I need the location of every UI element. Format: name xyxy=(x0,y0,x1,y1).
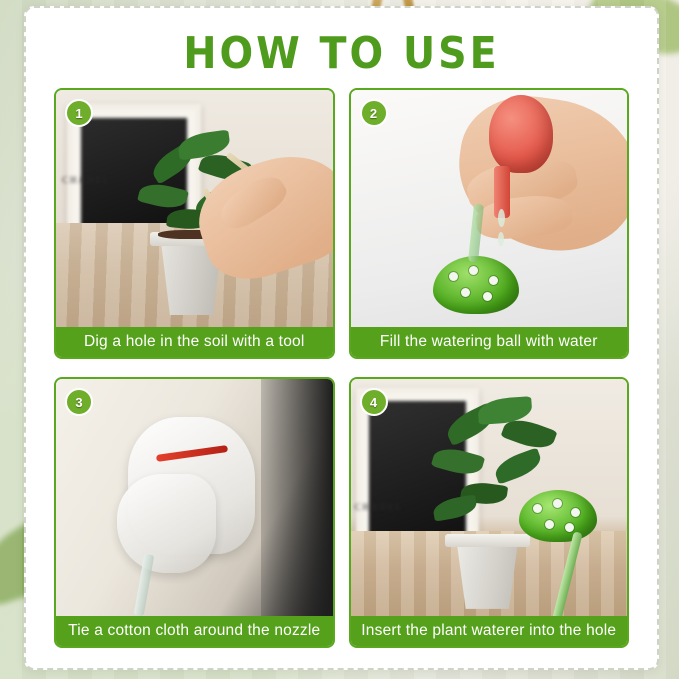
step-4-photo: CHANEL xyxy=(351,379,628,616)
step-4-caption: Insert the plant waterer into the hole xyxy=(351,616,628,646)
step-1-photo: CHANEL 1 xyxy=(56,90,333,327)
ball-dot xyxy=(489,276,498,285)
step-number-badge: 1 xyxy=(65,99,93,127)
waterer-dot xyxy=(553,499,562,508)
step-2-caption: Fill the watering ball with water xyxy=(351,327,628,357)
step-card-3[interactable]: 3 Tie a cotton cloth around the nozzle xyxy=(54,377,335,648)
steps-grid: CHANEL 1 Dig a xyxy=(54,88,629,648)
step-2-photo: 2 xyxy=(351,90,628,327)
step-number-badge: 4 xyxy=(360,388,388,416)
ball-dot xyxy=(449,272,458,281)
poster-root: HOW TO USE CHANEL xyxy=(0,0,679,679)
waterer-dot xyxy=(533,504,542,513)
frame-brand-text: CHANEL xyxy=(62,175,111,185)
picture-frame-inner xyxy=(369,401,466,543)
step-card-1[interactable]: CHANEL 1 Dig a xyxy=(54,88,335,359)
waterer-dot xyxy=(545,520,554,529)
waterer-dot xyxy=(571,508,580,517)
step-3-caption: Tie a cotton cloth around the nozzle xyxy=(56,616,333,646)
step-1-caption: Dig a hole in the soil with a tool xyxy=(56,327,333,357)
ball-dot xyxy=(461,288,470,297)
instruction-card: HOW TO USE CHANEL xyxy=(24,6,659,670)
ball-dot xyxy=(469,266,478,275)
plant-waterer-bulb xyxy=(519,490,597,542)
step-card-4[interactable]: CHANEL xyxy=(349,377,630,648)
ball-dot xyxy=(483,292,492,301)
waterer-dot xyxy=(565,523,574,532)
page-title: HOW TO USE xyxy=(26,28,657,79)
plant-pot-rim xyxy=(445,534,531,547)
step-card-2[interactable]: 2 Fill the watering ball with water xyxy=(349,88,630,359)
frame-brand-text: CHANEL xyxy=(355,502,404,512)
step-number-badge: 3 xyxy=(65,388,93,416)
cotton-cloth-fold xyxy=(117,474,217,574)
step-number-badge: 2 xyxy=(360,99,388,127)
dark-background-panel xyxy=(261,379,333,616)
red-squeeze-bulb xyxy=(489,95,553,173)
step-3-photo: 3 xyxy=(56,379,333,616)
